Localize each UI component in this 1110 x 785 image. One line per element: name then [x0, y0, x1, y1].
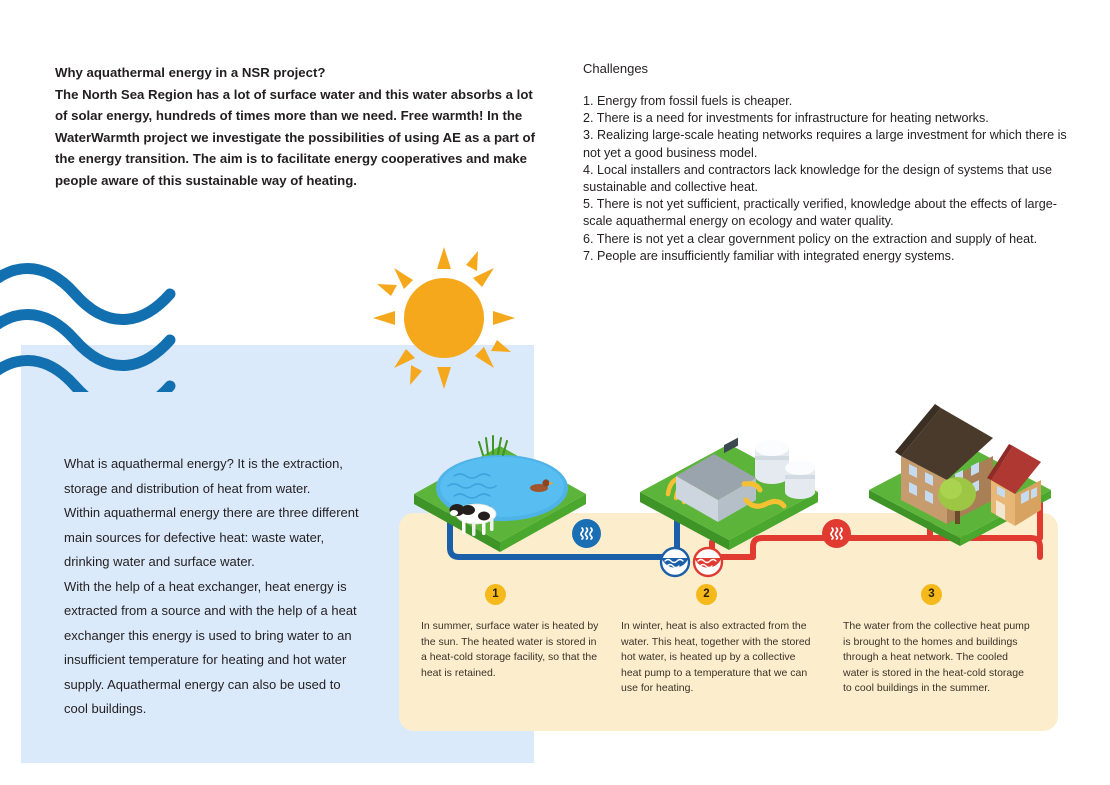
about-paragraph-2: Within aquathermal energy there are thre… — [64, 501, 360, 575]
lake-with-cow-scene — [410, 432, 592, 552]
challenge-item: 1. Energy from fossil fuels is cheaper. — [583, 93, 1083, 110]
step-caption-1: In summer, surface water is heated by th… — [421, 619, 601, 681]
heat-waves-icon-cold — [572, 519, 601, 548]
challenge-item: 7. People are insufficiently familiar wi… — [583, 248, 1083, 265]
challenge-item: 4. Local installers and contractors lack… — [583, 162, 1083, 196]
collective-heat-pump-scene — [632, 428, 826, 550]
about-paragraph-3: With the help of a heat exchanger, heat … — [64, 575, 360, 722]
challenges-list: 1. Energy from fossil fuels is cheaper. … — [583, 93, 1083, 265]
sun-icon — [373, 247, 515, 389]
challenge-item: 6. There is not yet a clear government p… — [583, 231, 1083, 248]
homes-and-buildings-scene — [855, 394, 1065, 546]
challenge-item: 3. Realizing large-scale heating network… — [583, 127, 1083, 161]
hot-storage-flask-icon — [689, 534, 727, 578]
step-badge-2: 2 — [696, 584, 717, 605]
intro-body: The North Sea Region has a lot of surfac… — [55, 84, 535, 192]
challenge-item: 2. There is a need for investments for i… — [583, 110, 1083, 127]
about-paragraph-1: What is aquathermal energy? It is the ex… — [64, 452, 360, 501]
challenges-block: Challenges 1. Energy from fossil fuels i… — [583, 60, 1083, 265]
about-aquathermal-block: What is aquathermal energy? It is the ex… — [64, 452, 360, 722]
intro-text-block: Why aquathermal energy in a NSR project?… — [55, 62, 535, 191]
infographic-canvas: 1 2 3 In summer, surface water is heated… — [0, 0, 1110, 785]
step-badge-3: 3 — [921, 584, 942, 605]
step-caption-3: The water from the collective heat pump … — [843, 619, 1033, 697]
water-waves-icon — [0, 262, 190, 392]
challenge-item: 5. There is not yet sufficient, practica… — [583, 196, 1083, 230]
heat-waves-icon-hot — [822, 519, 851, 548]
intro-heading: Why aquathermal energy in a NSR project? — [55, 62, 535, 84]
step-caption-2: In winter, heat is also extracted from t… — [621, 619, 817, 697]
challenges-title: Challenges — [583, 60, 1083, 77]
step-badge-1: 1 — [485, 584, 506, 605]
